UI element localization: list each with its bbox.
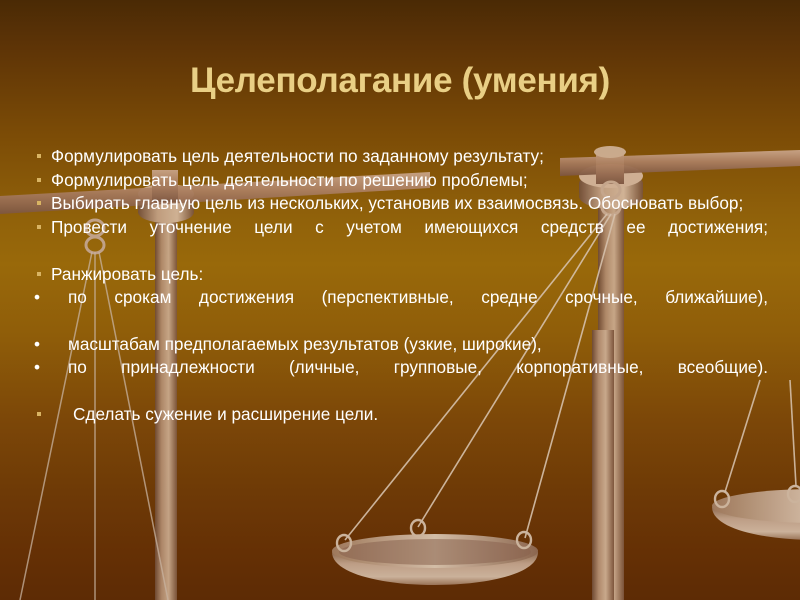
sub-list-item-label: по срокам достижения (перспективные, сре… xyxy=(68,287,768,307)
list-item: Сделать сужение и расширение цели. xyxy=(34,403,768,426)
list-item-label: Сделать сужение и расширение цели. xyxy=(73,404,378,424)
list-item-label: Формулировать цель деятельности по решен… xyxy=(51,170,528,190)
list-item-label: Формулировать цель деятельности по задан… xyxy=(51,146,544,166)
page-title: Целеполагание (умения) xyxy=(0,62,800,101)
square-bullet-icon xyxy=(37,225,41,229)
dot-bullet-icon: • xyxy=(34,286,68,309)
slide-content: Целеполагание (умения) Формулировать цел… xyxy=(0,0,800,600)
sub-list-item: •по срокам достижения (перспективные, ср… xyxy=(34,286,768,331)
sub-list-item: •масштабам предполагаемых результатов (у… xyxy=(34,333,768,356)
list-item: Провести уточнение цели с учетом имеющих… xyxy=(34,216,768,261)
square-bullet-icon xyxy=(37,154,41,158)
list-item-label: Провести уточнение цели с учетом имеющих… xyxy=(51,217,768,237)
list-item: Выбирать главную цель из нескольких, уст… xyxy=(34,192,768,215)
dot-bullet-icon: • xyxy=(34,333,68,356)
list-item: Ранжировать цель: xyxy=(34,263,768,286)
slide: Целеполагание (умения) Формулировать цел… xyxy=(0,0,800,600)
square-bullet-icon xyxy=(37,272,41,276)
list-item-label: Выбирать главную цель из нескольких, уст… xyxy=(51,193,743,213)
list-item: Формулировать цель деятельности по задан… xyxy=(34,145,768,168)
square-bullet-icon xyxy=(37,412,41,416)
square-bullet-icon xyxy=(37,178,41,182)
square-bullet-icon xyxy=(37,201,41,205)
dot-bullet-icon: • xyxy=(34,356,68,379)
sub-list-item: •по принадлежности (личные, групповые, к… xyxy=(34,356,768,401)
sub-list-item-label: масштабам предполагаемых результатов (уз… xyxy=(68,334,542,354)
bullet-list: Формулировать цель деятельности по задан… xyxy=(34,145,768,426)
list-item: Формулировать цель деятельности по решен… xyxy=(34,169,768,192)
list-item-label: Ранжировать цель: xyxy=(51,264,203,284)
sub-list-item-label: по принадлежности (личные, групповые, ко… xyxy=(68,357,768,377)
